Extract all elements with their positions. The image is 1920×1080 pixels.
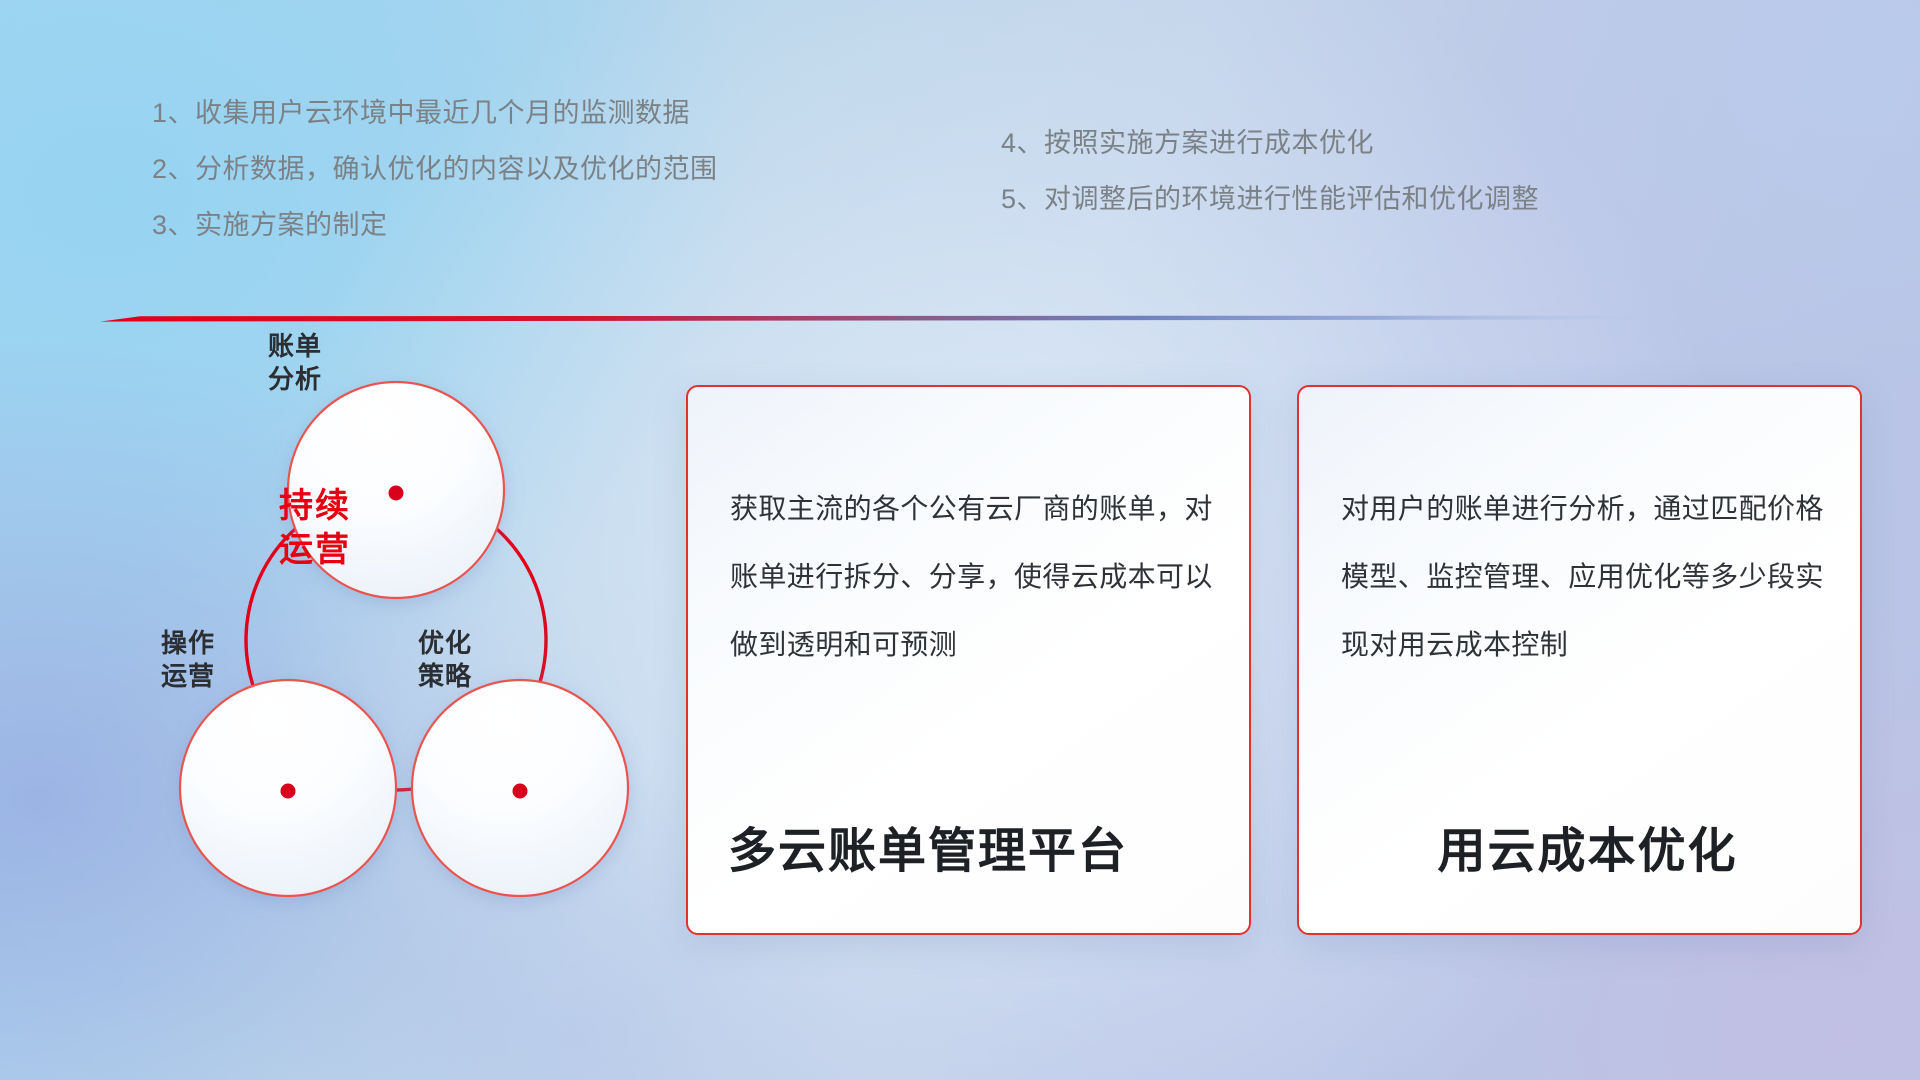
card-body-text: 对用户的账单进行分析，通过匹配价格模型、监控管理、应用优化等多少段实现对用云成本… [1341, 475, 1824, 678]
bubble-label-optimization-strategy: 优化 策略 [365, 627, 525, 694]
step-item-3: 3、实施方案的制定 [152, 212, 388, 239]
card-cloud-cost-optimization[interactable]: 对用户的账单进行分析，通过匹配价格模型、监控管理、应用优化等多少段实现对用云成本… [1297, 385, 1862, 935]
card-body-text: 获取主流的各个公有云厂商的账单，对账单进行拆分、分享，使得云成本可以做到透明和可… [730, 475, 1213, 678]
bubble-optimization-strategy [412, 680, 628, 896]
card-title: 多云账单管理平台 [728, 811, 1225, 881]
bubble-label-operation-ops: 操作 运营 [108, 627, 268, 694]
step-item-1: 1、收集用户云环境中最近几个月的监测数据 [152, 100, 690, 127]
step-item-2: 2、分析数据，确认优化的内容以及优化的范围 [152, 156, 718, 183]
card-title: 用云成本优化 [1339, 811, 1836, 881]
bubble-label-bill-analysis: 账单 分析 [215, 330, 375, 397]
section-divider [100, 313, 1670, 322]
bubble-operation-ops [180, 680, 396, 896]
diagram-center-label: 持续 运营 [230, 485, 400, 572]
card-multi-cloud-bill-platform[interactable]: 获取主流的各个公有云厂商的账单，对账单进行拆分、分享，使得云成本可以做到透明和可… [686, 385, 1251, 935]
step-item-4: 4、按照实施方案进行成本优化 [1001, 130, 1374, 157]
step-item-5: 5、对调整后的环境进行性能评估和优化调整 [1001, 186, 1539, 213]
